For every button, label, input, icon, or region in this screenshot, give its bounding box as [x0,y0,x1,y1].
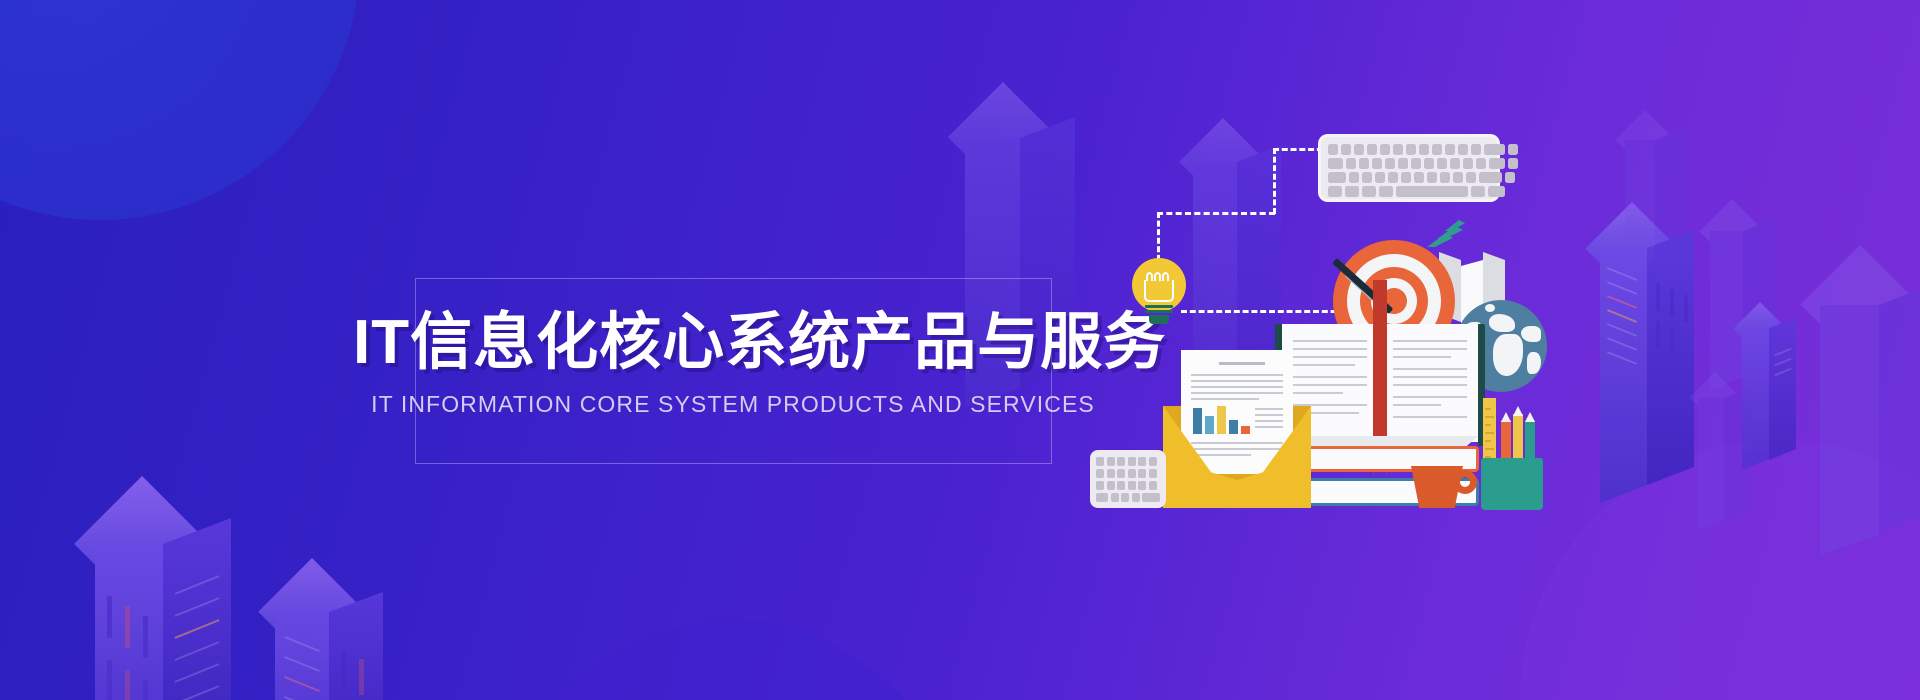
small-keyboard-icon [1090,450,1166,508]
arrow-feather-2 [1427,234,1453,247]
mini-bar-4 [1229,420,1238,434]
pencil-2-tip [1513,406,1523,416]
pencil-holder-icon [1481,398,1543,510]
building-left-short [275,585,425,700]
keyboard-icon [1318,134,1500,202]
lightbulb-icon [1130,258,1188,326]
mini-bar-1 [1193,408,1202,434]
page-title: IT信息化核心系统产品与服务 [353,310,1113,375]
building-right-f [1698,385,1778,535]
hero-illustration [1115,130,1555,570]
page-subtitle: IT INFORMATION CORE SYSTEM PRODUCTS AND … [353,391,1113,418]
building-right-e [1820,275,1920,555]
envelope-icon [1163,406,1311,508]
dashed-connector-segment-2 [1157,212,1275,215]
circle-bottom-center-shape [500,620,960,700]
title-block: IT信息化核心系统产品与服务 IT INFORMATION CORE SYSTE… [353,310,1113,418]
hero-banner: IT信息化核心系统产品与服务 IT INFORMATION CORE SYSTE… [0,0,1920,700]
coffee-cup-icon [1411,466,1483,510]
mini-bar-2 [1205,416,1214,434]
building-left-tall [95,510,285,700]
dashed-connector-segment-3 [1273,148,1276,214]
building-right-b [1625,125,1715,275]
pencil-3-tip [1525,412,1535,422]
mini-bar-5 [1241,426,1250,434]
mini-bar-3 [1217,406,1226,434]
pencil-1-tip [1501,412,1511,422]
circle-top-left-shape [0,0,360,220]
